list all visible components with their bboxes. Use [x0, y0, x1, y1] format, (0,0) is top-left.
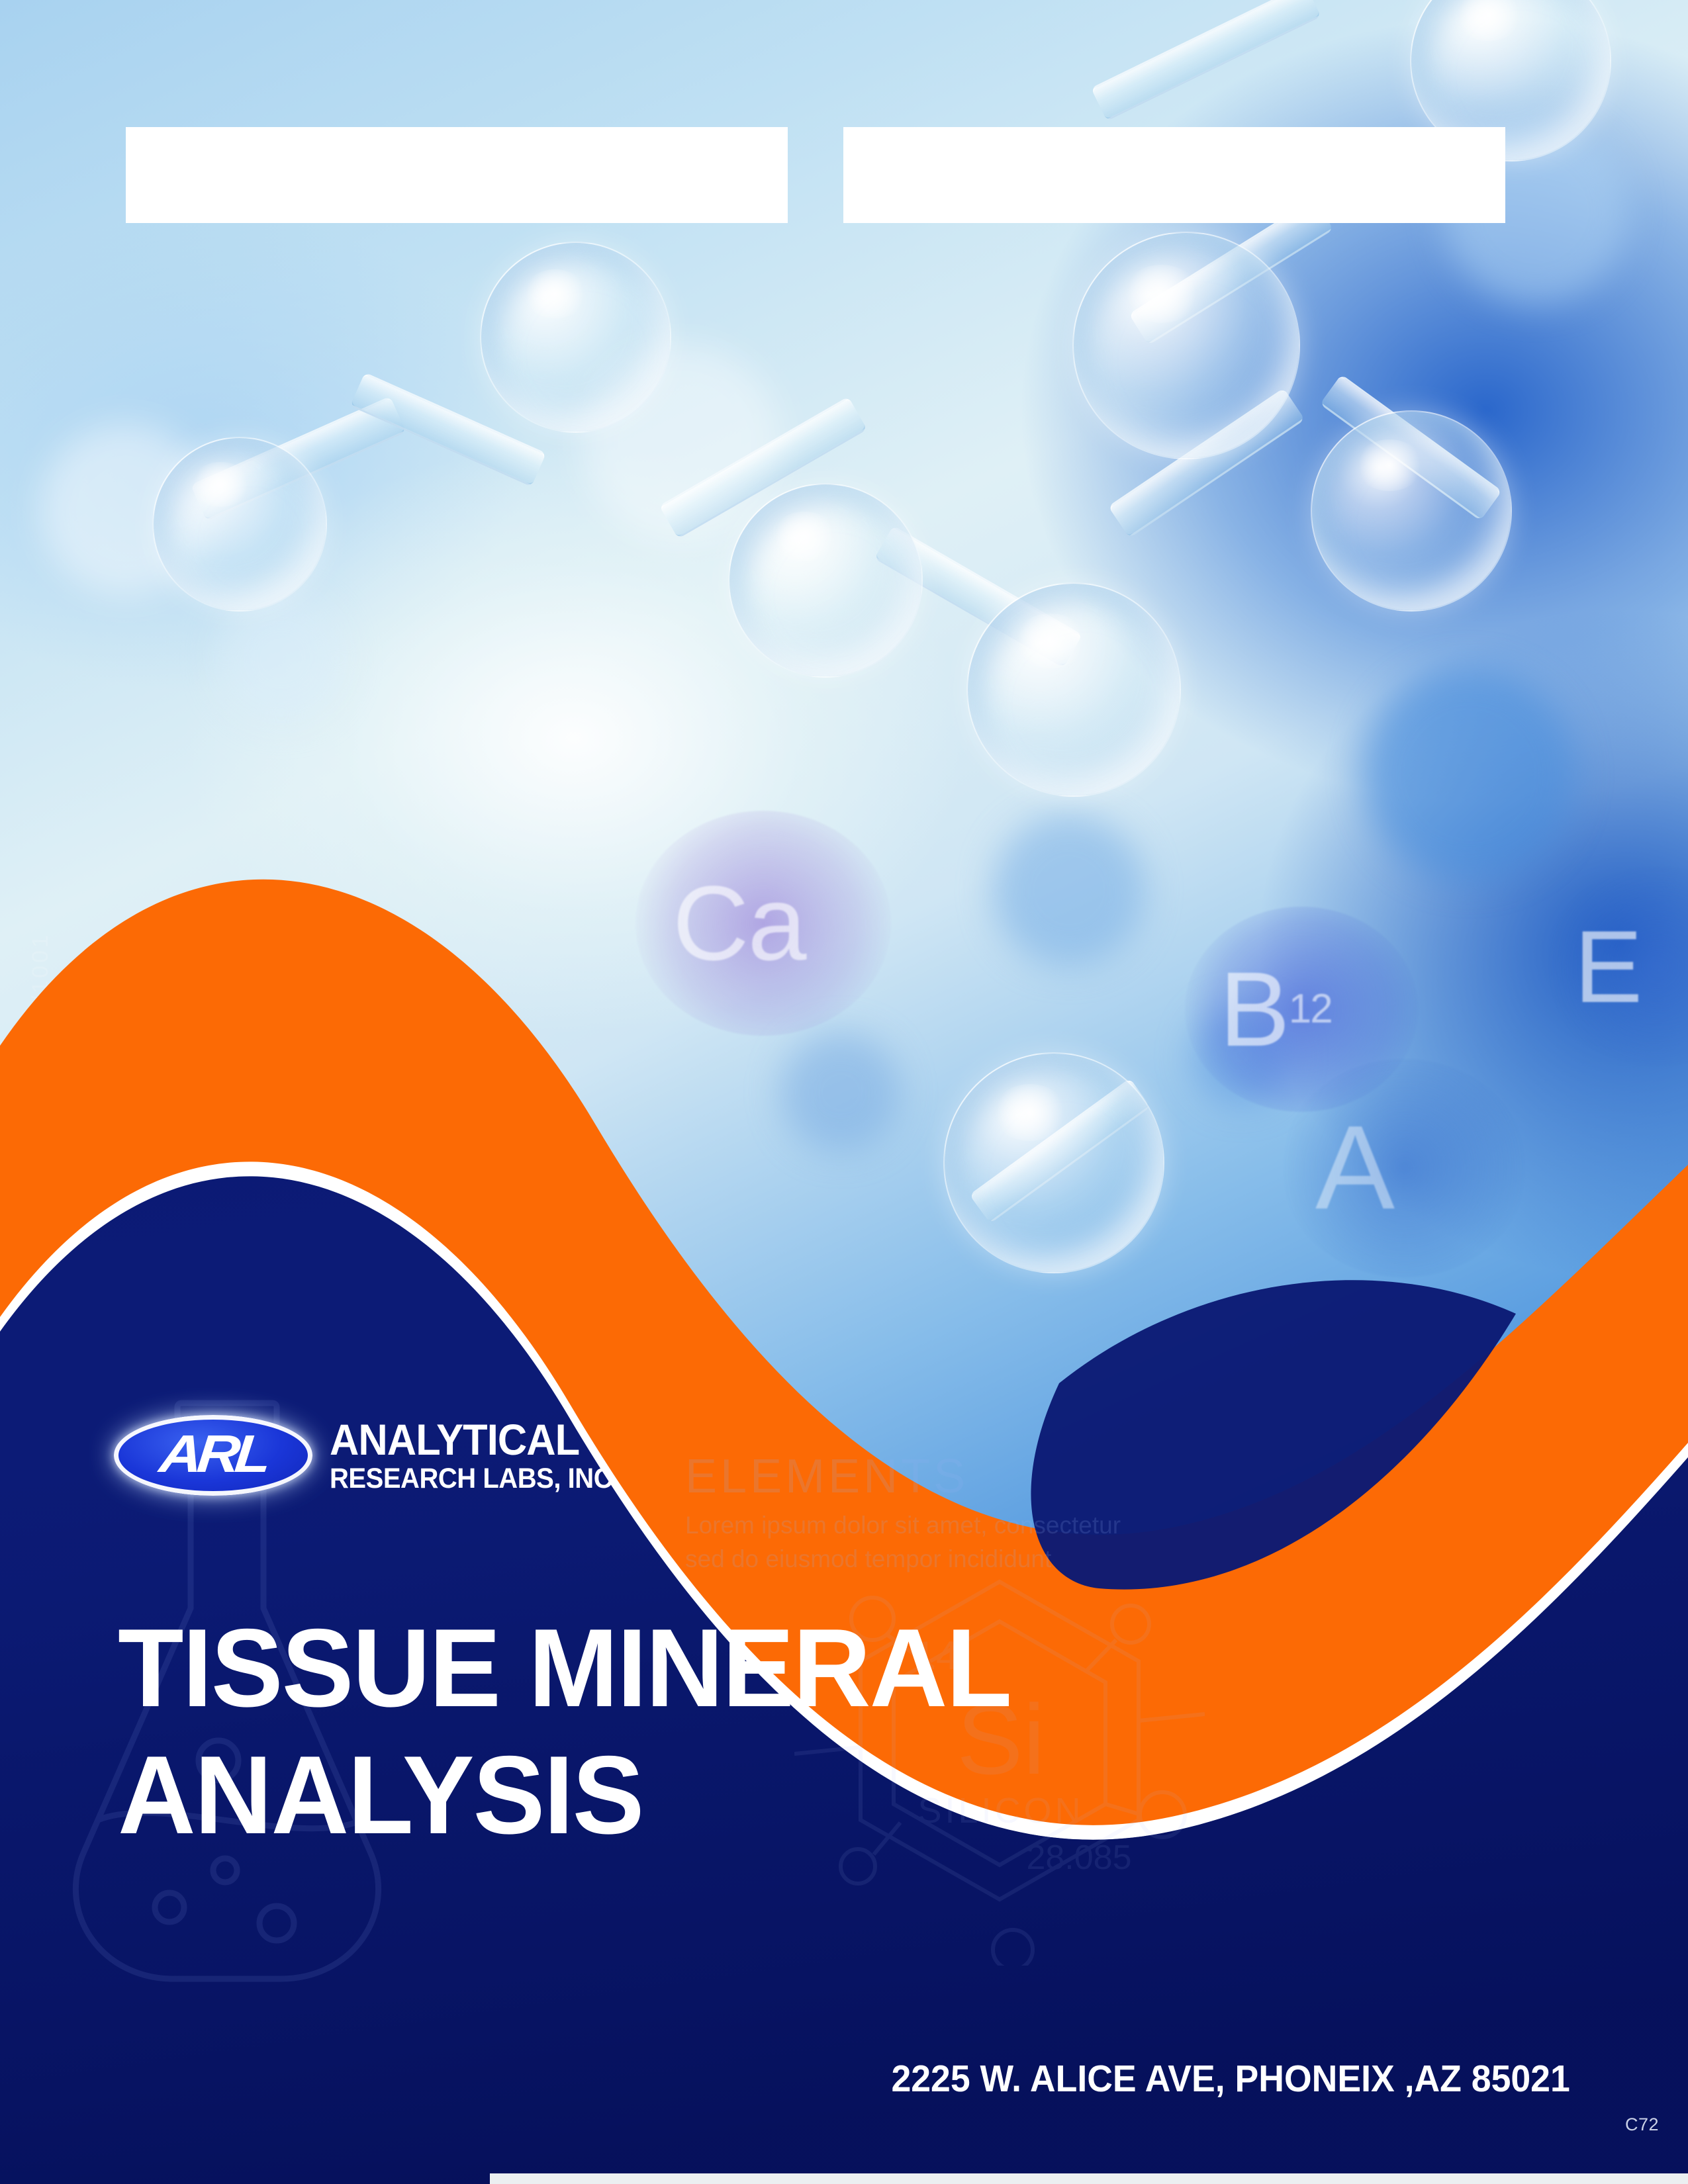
footer-address: 2225 W. ALICE AVE, PHONEIX ,AZ 85021 [892, 2057, 1570, 2101]
molecule-sphere [152, 437, 327, 612]
page-edge-strip [490, 2173, 1688, 2184]
redaction-box-row [0, 127, 1688, 223]
element-label-ca: Ca [635, 811, 891, 1036]
bokeh-blob [218, 596, 344, 721]
arl-logo-text: ARL [158, 1428, 269, 1480]
brand-name-line-1: ANALYTICAL [330, 1418, 620, 1461]
element-symbol: A [1315, 1109, 1393, 1228]
element-symbol: B [1219, 956, 1289, 1062]
cover-title-line-2: ANALYSIS [118, 1732, 1081, 1859]
side-watermark-text: 22/1001 [28, 933, 54, 1032]
arl-logo-icon: ARL [114, 1415, 312, 1496]
molecule-sphere [480, 242, 671, 433]
molecule-sphere [728, 483, 923, 678]
brand-name-line-2: RESEARCH LABS, INC. [330, 1465, 620, 1493]
cover-title: TISSUE MINERAL ANALYSIS [118, 1605, 1081, 1858]
document-code: C72 [1625, 2115, 1659, 2135]
element-label-e: E [1542, 867, 1688, 1066]
brand-name: ANALYTICAL RESEARCH LABS, INC. [330, 1418, 641, 1493]
bokeh-blob [781, 1032, 900, 1152]
element-symbol: E [1574, 915, 1641, 1018]
bokeh-blob [1364, 668, 1575, 880]
redaction-box-left[interactable] [126, 127, 788, 223]
element-symbol: Ca [673, 870, 806, 976]
redaction-box-right[interactable] [843, 127, 1505, 223]
bokeh-blob [993, 814, 1145, 966]
molecule-sphere [1311, 410, 1512, 612]
cover-page: Ca B12 E A 22/1001 [0, 0, 1688, 2184]
molecule-bond [1091, 0, 1321, 121]
cover-title-line-1: TISSUE MINERAL [118, 1605, 1081, 1732]
element-subscript: 12 [1289, 989, 1332, 1030]
brand-lockup: ARL ANALYTICAL RESEARCH LABS, INC. [114, 1415, 641, 1496]
molecule-sphere [943, 1052, 1164, 1273]
molecule-sphere [1072, 232, 1300, 459]
element-label-a: A [1281, 1059, 1527, 1277]
molecule-sphere [966, 582, 1181, 797]
